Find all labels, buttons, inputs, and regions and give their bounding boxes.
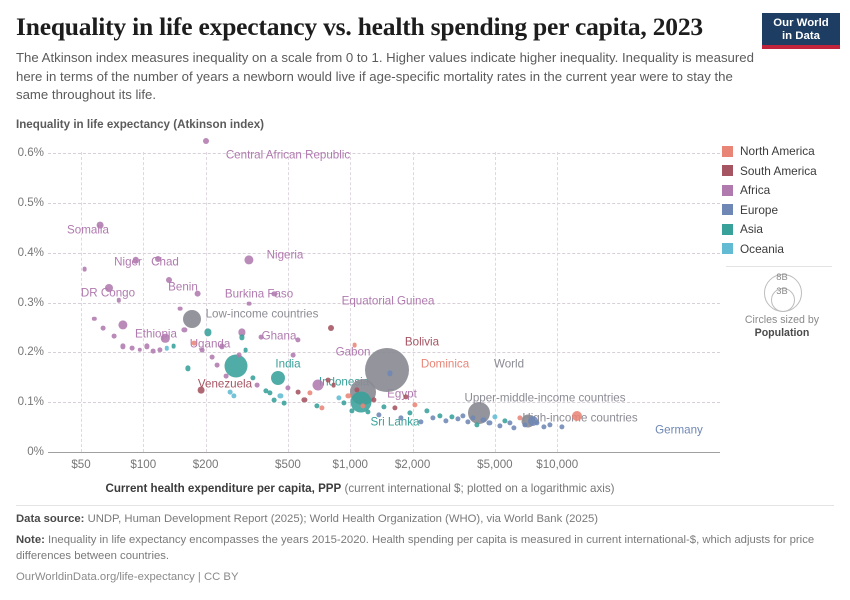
data-point-equatorial-guinea[interactable]: [272, 291, 277, 296]
continent-legend[interactable]: North AmericaSouth AmericaAfricaEuropeAs…: [722, 144, 850, 261]
legend-swatch-icon: [722, 204, 733, 215]
size-caption-line-1: Circles sized by: [722, 314, 842, 327]
point-label-dominica: Dominica: [421, 358, 469, 371]
data-point[interactable]: [319, 406, 324, 411]
data-point[interactable]: [255, 382, 260, 387]
note-text: Inequality in life expectancy encompasse…: [16, 534, 814, 561]
data-point[interactable]: [219, 344, 224, 349]
x-axis-title: Current health expenditure per capita, P…: [0, 482, 720, 495]
legend-swatch-icon: [722, 165, 733, 176]
data-point[interactable]: [144, 344, 149, 349]
data-point[interactable]: [541, 425, 546, 430]
footer-divider: [16, 505, 834, 506]
data-point[interactable]: [547, 423, 552, 428]
data-point-somalia[interactable]: [97, 222, 104, 229]
size-caption-line-2: Population: [755, 327, 810, 339]
data-point-dominica[interactable]: [352, 343, 357, 348]
owid-logo[interactable]: Our World in Data: [762, 13, 840, 49]
point-label-world: World: [494, 358, 524, 371]
data-point[interactable]: [474, 422, 479, 427]
x-axis-tick-label: $1,000: [333, 458, 368, 471]
data-point[interactable]: [296, 390, 301, 395]
data-point[interactable]: [498, 424, 503, 429]
point-label-germany: Germany: [655, 424, 703, 437]
data-point[interactable]: [559, 425, 564, 430]
data-point[interactable]: [308, 391, 313, 396]
data-point-uganda[interactable]: [161, 334, 169, 342]
logo-line-2: in Data: [762, 30, 840, 43]
data-point[interactable]: [331, 382, 336, 387]
data-point[interactable]: [171, 344, 176, 349]
y-axis-tick-label: 0.6%: [6, 146, 44, 159]
x-axis-tick-label: $10,000: [536, 458, 578, 471]
y-axis-tick-label: 0.3%: [6, 296, 44, 309]
note-row: Note: Inequality in life expectancy enco…: [16, 533, 826, 564]
data-point[interactable]: [165, 346, 169, 350]
legend-swatch-icon: [722, 224, 733, 235]
y-axis-tick-label: 0.2%: [6, 345, 44, 358]
legend-item-label: North America: [740, 144, 815, 158]
data-point-benin[interactable]: [166, 277, 172, 283]
y-axis-tick-label: 0%: [6, 445, 44, 458]
x-axis-tick-label: $200: [193, 458, 219, 471]
x-axis-tick-label: $50: [71, 458, 90, 471]
chart-header: Inequality in life expectancy vs. health…: [16, 12, 756, 105]
legend-swatch-icon: [722, 185, 733, 196]
data-point[interactable]: [465, 420, 470, 425]
data-point[interactable]: [215, 362, 220, 367]
data-point[interactable]: [419, 420, 424, 425]
data-point-burkina-faso[interactable]: [194, 290, 201, 297]
data-point[interactable]: [186, 366, 191, 371]
page-title: Inequality in life expectancy vs. health…: [16, 12, 756, 42]
point-label-ghana: Ghana: [262, 330, 297, 343]
legend-item-north-america[interactable]: North America: [722, 144, 850, 158]
data-point[interactable]: [336, 396, 341, 401]
data-point[interactable]: [460, 414, 465, 419]
bubble-label-inner: 3B: [776, 285, 787, 296]
x-axis-title-bold: Current health expenditure per capita, P…: [105, 482, 341, 495]
data-point[interactable]: [232, 394, 237, 399]
y-gridline: [48, 203, 720, 204]
y-axis-tick-label: 0.5%: [6, 196, 44, 209]
data-point[interactable]: [366, 410, 371, 415]
chart-footer: Data source: UNDP, Human Development Rep…: [16, 512, 826, 592]
data-point[interactable]: [424, 409, 429, 414]
data-point[interactable]: [282, 401, 287, 406]
data-point-indonesia[interactable]: [271, 371, 285, 385]
x-axis-tick-label: $2,000: [395, 458, 430, 471]
data-point[interactable]: [82, 266, 87, 271]
data-point[interactable]: [487, 421, 492, 426]
legend-swatch-icon: [722, 243, 733, 254]
data-point[interactable]: [121, 344, 126, 349]
data-point[interactable]: [507, 421, 512, 426]
data-point[interactable]: [492, 415, 497, 420]
data-point[interactable]: [258, 335, 263, 340]
data-point[interactable]: [349, 409, 354, 414]
data-point[interactable]: [449, 415, 454, 420]
note-label: Note:: [16, 534, 45, 546]
legend-item-label: Asia: [740, 222, 763, 236]
legend-item-label: Europe: [740, 203, 778, 217]
data-point-chad[interactable]: [155, 256, 161, 262]
data-point[interactable]: [455, 417, 460, 422]
point-label-low-income-countries: Low-income countries: [206, 308, 319, 321]
data-point[interactable]: [247, 301, 252, 306]
data-source-row: Data source: UNDP, Human Development Rep…: [16, 512, 826, 527]
data-point[interactable]: [326, 377, 331, 382]
point-label-equatorial-guinea: Equatorial Guinea: [342, 295, 435, 308]
data-point[interactable]: [210, 355, 215, 360]
data-point[interactable]: [437, 414, 442, 419]
data-point[interactable]: [398, 416, 403, 421]
data-point-niger[interactable]: [133, 257, 139, 263]
data-point[interactable]: [239, 335, 244, 340]
data-point-bolivia[interactable]: [328, 325, 334, 331]
legend-item-africa[interactable]: Africa: [722, 183, 850, 197]
y-gridline: [48, 303, 720, 304]
x-gridline: [288, 152, 289, 452]
y-gridline: [48, 153, 720, 154]
size-legend-bubbles: 8B 3B: [722, 268, 842, 314]
data-point[interactable]: [443, 419, 448, 424]
data-point[interactable]: [151, 348, 156, 353]
data-point[interactable]: [268, 391, 273, 396]
point-label-benin: Benin: [168, 281, 198, 294]
x-gridline: [81, 152, 82, 452]
data-point[interactable]: [177, 306, 182, 311]
legend-item-oceania[interactable]: Oceania: [722, 242, 850, 256]
x-axis-title-note: (current international $; plotted on a l…: [341, 482, 614, 495]
data-point[interactable]: [92, 316, 96, 320]
data-point[interactable]: [200, 348, 205, 353]
data-point[interactable]: [251, 376, 256, 381]
logo-line-1: Our World: [762, 17, 840, 30]
point-label-nigeria: Nigeria: [267, 249, 304, 262]
data-point-egypt[interactable]: [313, 379, 324, 390]
data-point[interactable]: [243, 348, 248, 353]
data-point[interactable]: [101, 326, 106, 331]
data-point[interactable]: [430, 416, 435, 421]
data-point[interactable]: [272, 397, 277, 402]
legend-divider: [726, 266, 832, 267]
y-axis-title: Inequality in life expectancy (Atkinson …: [16, 118, 264, 131]
x-gridline: [557, 152, 558, 452]
y-gridline: [48, 452, 720, 453]
data-point[interactable]: [512, 426, 517, 431]
x-axis-tick-label: $5,000: [477, 458, 512, 471]
data-point[interactable]: [535, 421, 540, 426]
data-point[interactable]: [192, 341, 197, 346]
x-axis-tick-label: $100: [130, 458, 156, 471]
license-text[interactable]: OurWorldinData.org/life-expectancy | CC …: [16, 570, 826, 585]
x-axis-tick-label: $500: [275, 458, 301, 471]
data-point[interactable]: [182, 327, 187, 332]
data-point-nigeria[interactable]: [245, 256, 254, 265]
legend-item-europe[interactable]: Europe: [722, 203, 850, 217]
data-point[interactable]: [204, 329, 211, 336]
x-gridline: [495, 152, 496, 452]
data-point[interactable]: [129, 346, 134, 351]
size-legend: 8B 3B Circles sized by Population: [722, 268, 842, 340]
x-gridline: [143, 152, 144, 452]
legend-item-label: Oceania: [740, 242, 784, 256]
legend-swatch-icon: [722, 146, 733, 157]
chart-subtitle: The Atkinson index measures inequality o…: [16, 49, 756, 105]
data-point[interactable]: [412, 402, 417, 407]
data-point-dr-congo[interactable]: [105, 284, 113, 292]
x-gridline: [206, 152, 207, 452]
data-point-central-african-republic[interactable]: [203, 138, 209, 144]
y-axis-tick-label: 0.4%: [6, 246, 44, 259]
legend-item-label: Africa: [740, 183, 770, 197]
data-point-gabon[interactable]: [296, 337, 301, 342]
bubble-label-outer: 8B: [776, 271, 787, 282]
data-point[interactable]: [278, 394, 283, 399]
data-point-ethiopia[interactable]: [119, 320, 128, 329]
y-axis-tick-label: 0.1%: [6, 395, 44, 408]
data-point[interactable]: [393, 406, 398, 411]
point-label-burkina-faso: Burkina Faso: [225, 288, 293, 301]
data-point-venezuela[interactable]: [198, 386, 205, 393]
size-legend-caption: Circles sized by Population: [722, 314, 842, 340]
data-point-low-income-countries[interactable]: [183, 310, 201, 328]
legend-item-south-america[interactable]: South America: [722, 164, 850, 178]
data-point[interactable]: [111, 334, 116, 339]
data-point[interactable]: [237, 352, 242, 357]
legend-item-asia[interactable]: Asia: [722, 222, 850, 236]
y-gridline: [48, 402, 720, 403]
data-point[interactable]: [572, 411, 582, 421]
point-label-bolivia: Bolivia: [405, 336, 439, 349]
data-point[interactable]: [227, 390, 232, 395]
data-point[interactable]: [224, 374, 229, 379]
data-point[interactable]: [381, 405, 386, 410]
data-source-label: Data source:: [16, 513, 84, 525]
data-point[interactable]: [403, 395, 408, 400]
data-point[interactable]: [377, 412, 382, 417]
data-point[interactable]: [341, 401, 346, 406]
y-gridline: [48, 253, 720, 254]
data-point[interactable]: [285, 386, 290, 391]
chart-page: Inequality in life expectancy vs. health…: [0, 0, 850, 600]
data-point[interactable]: [291, 352, 296, 357]
legend-item-label: South America: [740, 164, 817, 178]
data-source-text: UNDP, Human Development Report (2025); W…: [88, 513, 598, 525]
point-label-ethiopia: Ethiopia: [135, 328, 177, 341]
